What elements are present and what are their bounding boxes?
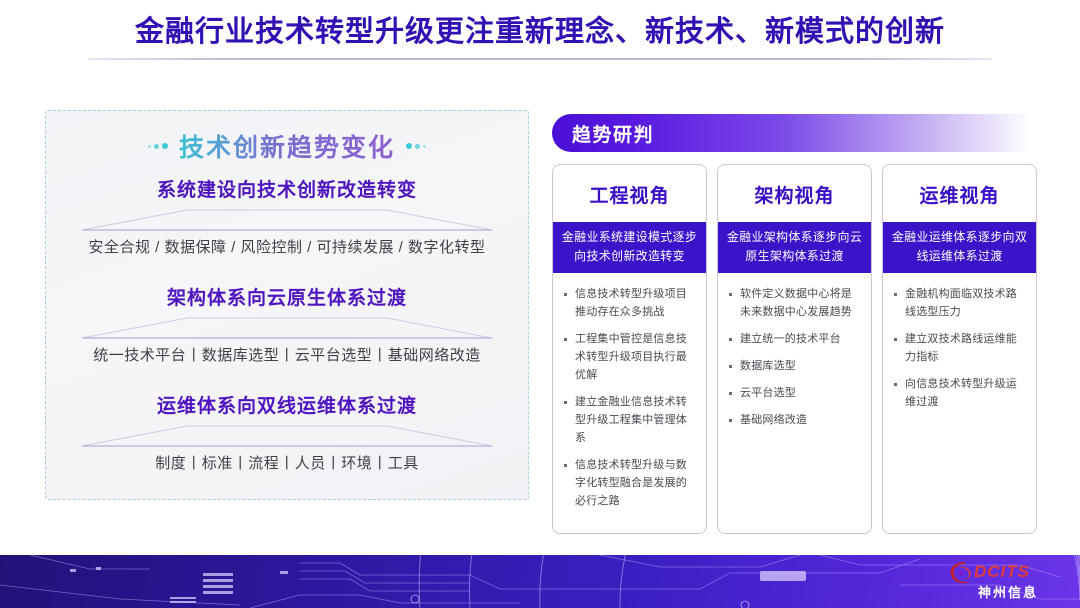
list-item: 信息技术转型升级与数字化转型融合是发展的必行之路 <box>561 456 696 510</box>
perspective-card[interactable]: 架构视角 金融业架构体系逐步向云原生架构体系过渡 软件定义数据中心将是未来数据中… <box>717 164 872 534</box>
trend-block: 运维体系向双线运维体系过渡 制度丨标准丨流程丨人员丨环境丨工具 <box>46 394 528 476</box>
list-item: 基础网络改造 <box>726 411 861 429</box>
card-title: 架构视角 <box>718 165 871 222</box>
list-item: 金融机构面临双技术路线选型压力 <box>891 285 1026 321</box>
card-banner: 金融业运维体系逐步向双线运维体系过渡 <box>883 222 1036 273</box>
trend-heading: 运维体系向双线运维体系过渡 <box>46 394 528 420</box>
panel-title: 技术创新趋势变化 <box>179 128 395 164</box>
list-item: 建立统一的技术平台 <box>726 330 861 348</box>
list-item: 数据库选型 <box>726 357 861 375</box>
list-item: 建立金融业信息技术转型升级工程集中管理体系 <box>561 393 696 447</box>
trend-heading: 系统建设向技术创新改造转变 <box>46 178 528 204</box>
footer-band: DCITS 神州信息 <box>0 555 1080 608</box>
logo-chinese-name: 神州信息 <box>978 582 1038 601</box>
trend-subtitle: 安全合规 / 数据保障 / 风险控制 / 可持续发展 / 数字化转型 <box>46 236 528 260</box>
panel-title-row: 技术创新趋势变化 <box>46 128 528 164</box>
logo-wordmark: DCITS <box>974 562 1030 582</box>
trend-change-panel: 技术创新趋势变化 系统建设向技术创新改造转变 安全合规 / 数据保障 / 风险控… <box>45 110 529 500</box>
brand-logo: DCITS 神州信息 <box>948 560 1068 604</box>
trend-subtitle: 统一技术平台丨数据库选型丨云平台选型丨基础网络改造 <box>46 344 528 368</box>
circuit-pattern-icon <box>0 555 1080 608</box>
slide-root: 金融行业技术转型升级更注重新理念、新技术、新模式的创新 技术创新趋势变化 系统建… <box>0 0 1080 608</box>
list-item: 信息技术转型升级项目推动存在众多挑战 <box>561 285 696 321</box>
page-title: 金融行业技术转型升级更注重新理念、新技术、新模式的创新 <box>0 12 1080 52</box>
funnel-shape-icon <box>77 316 497 342</box>
trend-block: 架构体系向云原生体系过渡 统一技术平台丨数据库选型丨云平台选型丨基础网络改造 <box>46 286 528 368</box>
list-item: 向信息技术转型升级运维过渡 <box>891 375 1026 411</box>
list-item: 云平台选型 <box>726 384 861 402</box>
funnel-shape-icon <box>77 424 497 450</box>
header-divider <box>88 58 992 60</box>
dots-left-icon <box>148 143 168 149</box>
trend-judgement-panel: 趋势研判 工程视角 金融业系统建设模式逐步向技术创新改造转变 信息技术转型升级项… <box>552 114 1044 534</box>
trend-block: 系统建设向技术创新改造转变 安全合规 / 数据保障 / 风险控制 / 可持续发展… <box>46 178 528 260</box>
card-banner: 金融业架构体系逐步向云原生架构体系过渡 <box>718 222 871 273</box>
section-ribbon: 趋势研判 <box>552 114 1032 152</box>
trend-heading: 架构体系向云原生体系过渡 <box>46 286 528 312</box>
list-item: 软件定义数据中心将是未来数据中心发展趋势 <box>726 285 861 321</box>
perspective-card[interactable]: 运维视角 金融业运维体系逐步向双线运维体系过渡 金融机构面临双技术路线选型压力 … <box>882 164 1037 534</box>
list-item: 工程集中管控是信息技术转型升级项目执行最优解 <box>561 330 696 384</box>
list-item: 建立双技术路线运维能力指标 <box>891 330 1026 366</box>
trend-subtitle: 制度丨标准丨流程丨人员丨环境丨工具 <box>46 452 528 476</box>
section-ribbon-label: 趋势研判 <box>572 120 654 147</box>
card-banner: 金融业系统建设模式逐步向技术创新改造转变 <box>553 222 706 273</box>
slide-header: 金融行业技术转型升级更注重新理念、新技术、新模式的创新 <box>0 12 1080 52</box>
card-bullet-list: 信息技术转型升级项目推动存在众多挑战 工程集中管控是信息技术转型升级项目执行最优… <box>553 273 706 533</box>
card-bullet-list: 软件定义数据中心将是未来数据中心发展趋势 建立统一的技术平台 数据库选型 云平台… <box>718 273 871 533</box>
perspective-card[interactable]: 工程视角 金融业系统建设模式逐步向技术创新改造转变 信息技术转型升级项目推动存在… <box>552 164 707 534</box>
funnel-shape-icon <box>77 208 497 234</box>
card-bullet-list: 金融机构面临双技术路线选型压力 建立双技术路线运维能力指标 向信息技术转型升级运… <box>883 273 1036 533</box>
dots-right-icon <box>406 143 426 149</box>
card-title: 运维视角 <box>883 165 1036 222</box>
card-title: 工程视角 <box>553 165 706 222</box>
perspective-card-list: 工程视角 金融业系统建设模式逐步向技术创新改造转变 信息技术转型升级项目推动存在… <box>552 164 1044 534</box>
